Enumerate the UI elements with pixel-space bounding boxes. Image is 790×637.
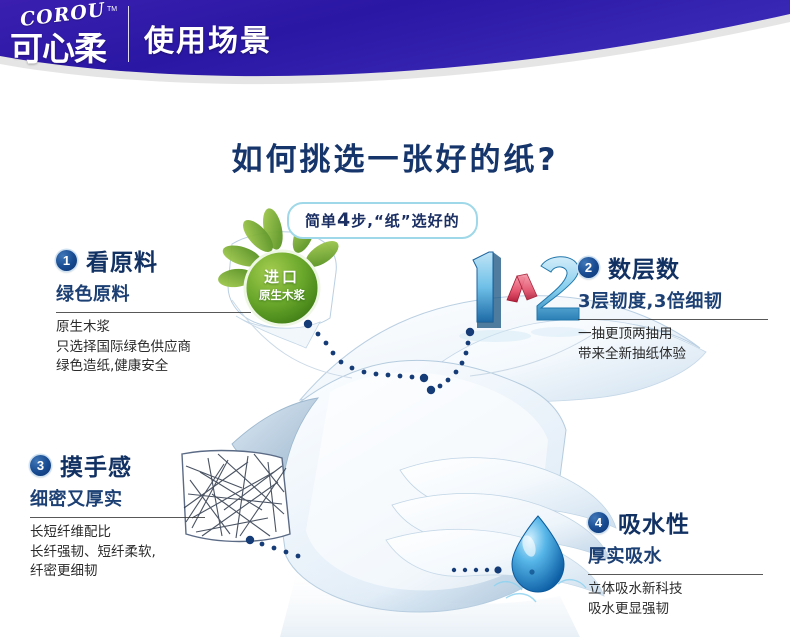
feature-2-body: 一抽更顶两抽用 带来全新抽纸体验	[578, 325, 783, 364]
subtitle-suffix: 步,“纸”选好的	[351, 212, 459, 230]
feature-3-body: 长短纤维配比 长纤强韧、短纤柔软, 纤密更细韧	[30, 523, 230, 582]
feature-3-body-line-3: 纤密更细韧	[30, 562, 230, 582]
feature-4-body-line-1: 立体吸水新科技	[588, 580, 783, 600]
feature-4-subtitle: 厚实吸水	[588, 542, 783, 568]
feature-3-title: 摸手感	[60, 448, 132, 482]
subtitle-prefix: 简单	[305, 212, 337, 230]
feature-1-body: 原生木浆 只选择国际绿色供应商 绿色造纸,健康安全	[56, 318, 271, 377]
subtitle-pill: 简单4步,“纸”选好的	[287, 202, 478, 239]
header-title: 使用场景	[144, 16, 272, 60]
feature-2-title: 数层数	[608, 250, 680, 284]
feature-3-subtitle: 细密又厚实	[30, 485, 230, 511]
feature-4-title: 吸水性	[618, 505, 690, 539]
feature-block-1: 1 看原料 绿色原料 原生木浆 只选择国际绿色供应商 绿色造纸,健康安全	[56, 243, 271, 377]
feature-4-number-badge: 4	[588, 512, 609, 533]
feature-2-rule	[578, 319, 768, 320]
feature-4-body: 立体吸水新科技 吸水更显强韧	[588, 580, 783, 619]
subtitle-number: 4	[337, 209, 351, 231]
feature-2-number-badge: 2	[578, 257, 599, 278]
feature-1-heading: 1 看原料	[56, 243, 271, 277]
feature-1-title: 看原料	[86, 243, 158, 277]
header-divider	[128, 6, 129, 62]
page-root: COROU TM 可心柔 使用场景 如何挑选一张好的纸? 简单4步,“纸”选好的…	[0, 0, 790, 637]
feature-2-subtitle: 3层韧度,3倍细韧	[578, 287, 783, 313]
feature-4-rule	[588, 574, 763, 575]
feature-1-body-line-2: 只选择国际绿色供应商	[56, 338, 271, 358]
feature-3-body-line-1: 长短纤维配比	[30, 523, 230, 543]
feature-4-body-line-2: 吸水更显强韧	[588, 600, 783, 620]
feature-3-heading: 3 摸手感	[30, 448, 230, 482]
feature-1-body-line-1: 原生木浆	[56, 318, 271, 338]
feature-3-number-badge: 3	[30, 455, 51, 476]
page-title: 如何挑选一张好的纸?	[0, 134, 790, 179]
feature-1-rule	[56, 312, 251, 313]
feature-3-rule	[30, 517, 205, 518]
feature-block-2: 2 数层数 3层韧度,3倍细韧 一抽更顶两抽用 带来全新抽纸体验	[578, 250, 783, 364]
feature-1-number-badge: 1	[56, 250, 77, 271]
feature-2-heading: 2 数层数	[578, 250, 783, 284]
feature-block-4: 4 吸水性 厚实吸水 立体吸水新科技 吸水更显强韧	[588, 505, 783, 619]
page-header: COROU TM 可心柔 使用场景	[0, 0, 790, 100]
brand-logo-chinese: 可心柔	[10, 22, 106, 70]
brand-trademark-mark: TM	[107, 6, 117, 13]
feature-2-body-line-2: 带来全新抽纸体验	[578, 345, 783, 365]
feature-3-body-line-2: 长纤强韧、短纤柔软,	[30, 543, 230, 563]
feature-1-body-line-3: 绿色造纸,健康安全	[56, 357, 271, 377]
feature-block-3: 3 摸手感 细密又厚实 长短纤维配比 长纤强韧、短纤柔软, 纤密更细韧	[30, 448, 230, 582]
feature-1-subtitle: 绿色原料	[56, 280, 271, 306]
feature-4-heading: 4 吸水性	[588, 505, 783, 539]
feature-2-body-line-1: 一抽更顶两抽用	[578, 325, 783, 345]
brand-logo: COROU TM 可心柔	[8, 2, 124, 64]
